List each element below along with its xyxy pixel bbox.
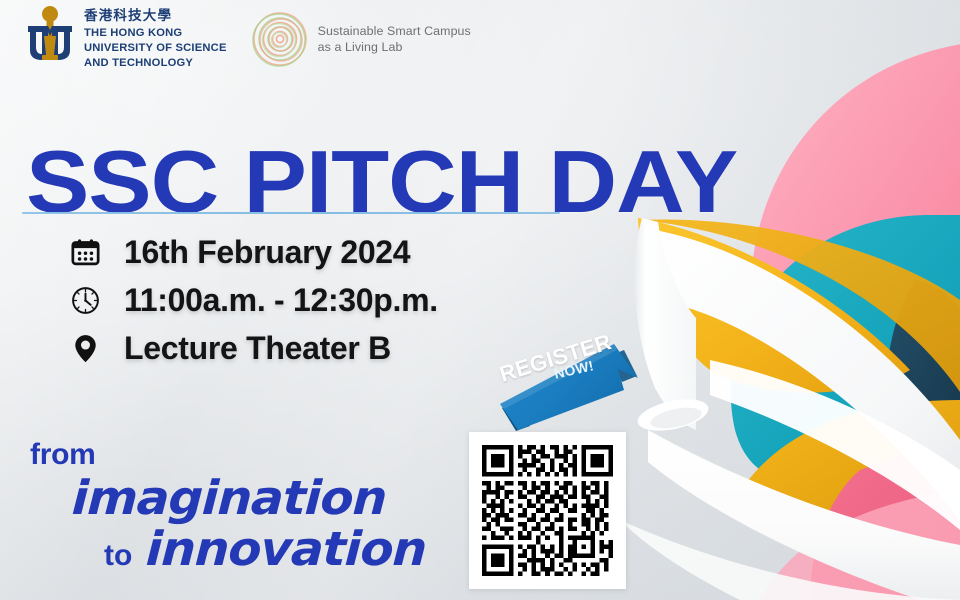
calendar-icon bbox=[68, 235, 102, 269]
hkust-logo: 香港科技大學 THE HONG KONG UNIVERSITY OF SCIEN… bbox=[24, 5, 227, 70]
clock-icon bbox=[68, 283, 102, 317]
tagline-imagination: imagination bbox=[71, 474, 430, 523]
event-venue-text: Lecture Theater B bbox=[124, 330, 391, 367]
registration-qr-card[interactable] bbox=[469, 432, 626, 589]
event-detail-time: 11:00a.m. - 12:30p.m. bbox=[68, 276, 438, 324]
tagline-line-3: to innovation bbox=[104, 525, 418, 574]
hkust-crest-icon bbox=[24, 5, 76, 63]
event-date-text: 16th February 2024 bbox=[124, 234, 410, 271]
event-poster: 香港科技大學 THE HONG KONG UNIVERSITY OF SCIEN… bbox=[0, 0, 960, 600]
ssc-name-line-1: Sustainable Smart Campus bbox=[318, 23, 471, 39]
header-logos: 香港科技大學 THE HONG KONG UNIVERSITY OF SCIEN… bbox=[24, 5, 471, 70]
event-time-text: 11:00a.m. - 12:30p.m. bbox=[124, 282, 438, 319]
event-detail-venue: Lecture Theater B bbox=[68, 324, 438, 372]
event-details-list: 16th February 2024 bbox=[68, 228, 438, 372]
hkust-name-zh: 香港科技大學 bbox=[84, 9, 227, 25]
tagline-innovation: innovation bbox=[145, 525, 428, 574]
event-detail-date: 16th February 2024 bbox=[68, 228, 438, 276]
ssc-logo: Sustainable Smart Campus as a Living Lab bbox=[251, 5, 471, 68]
registration-qr-code[interactable] bbox=[482, 445, 613, 576]
ssc-wordmark: Sustainable Smart Campus as a Living Lab bbox=[318, 23, 471, 56]
location-pin-icon bbox=[68, 331, 102, 365]
hkust-name-en-1: THE HONG KONG bbox=[84, 26, 227, 40]
title-divider bbox=[22, 212, 560, 214]
ssc-name-line-2: as a Living Lab bbox=[318, 39, 471, 55]
tagline-from: from bbox=[30, 440, 418, 470]
hkust-wordmark: 香港科技大學 THE HONG KONG UNIVERSITY OF SCIEN… bbox=[84, 5, 227, 70]
register-ribbon[interactable]: REGISTER NOW! bbox=[496, 342, 641, 422]
tagline-to: to bbox=[104, 541, 132, 571]
hkust-name-en-2: UNIVERSITY OF SCIENCE bbox=[84, 41, 227, 55]
tagline: from imagination to innovation bbox=[26, 440, 418, 575]
hkust-name-en-3: AND TECHNOLOGY bbox=[84, 56, 227, 70]
ssc-spiral-icon bbox=[251, 10, 309, 68]
